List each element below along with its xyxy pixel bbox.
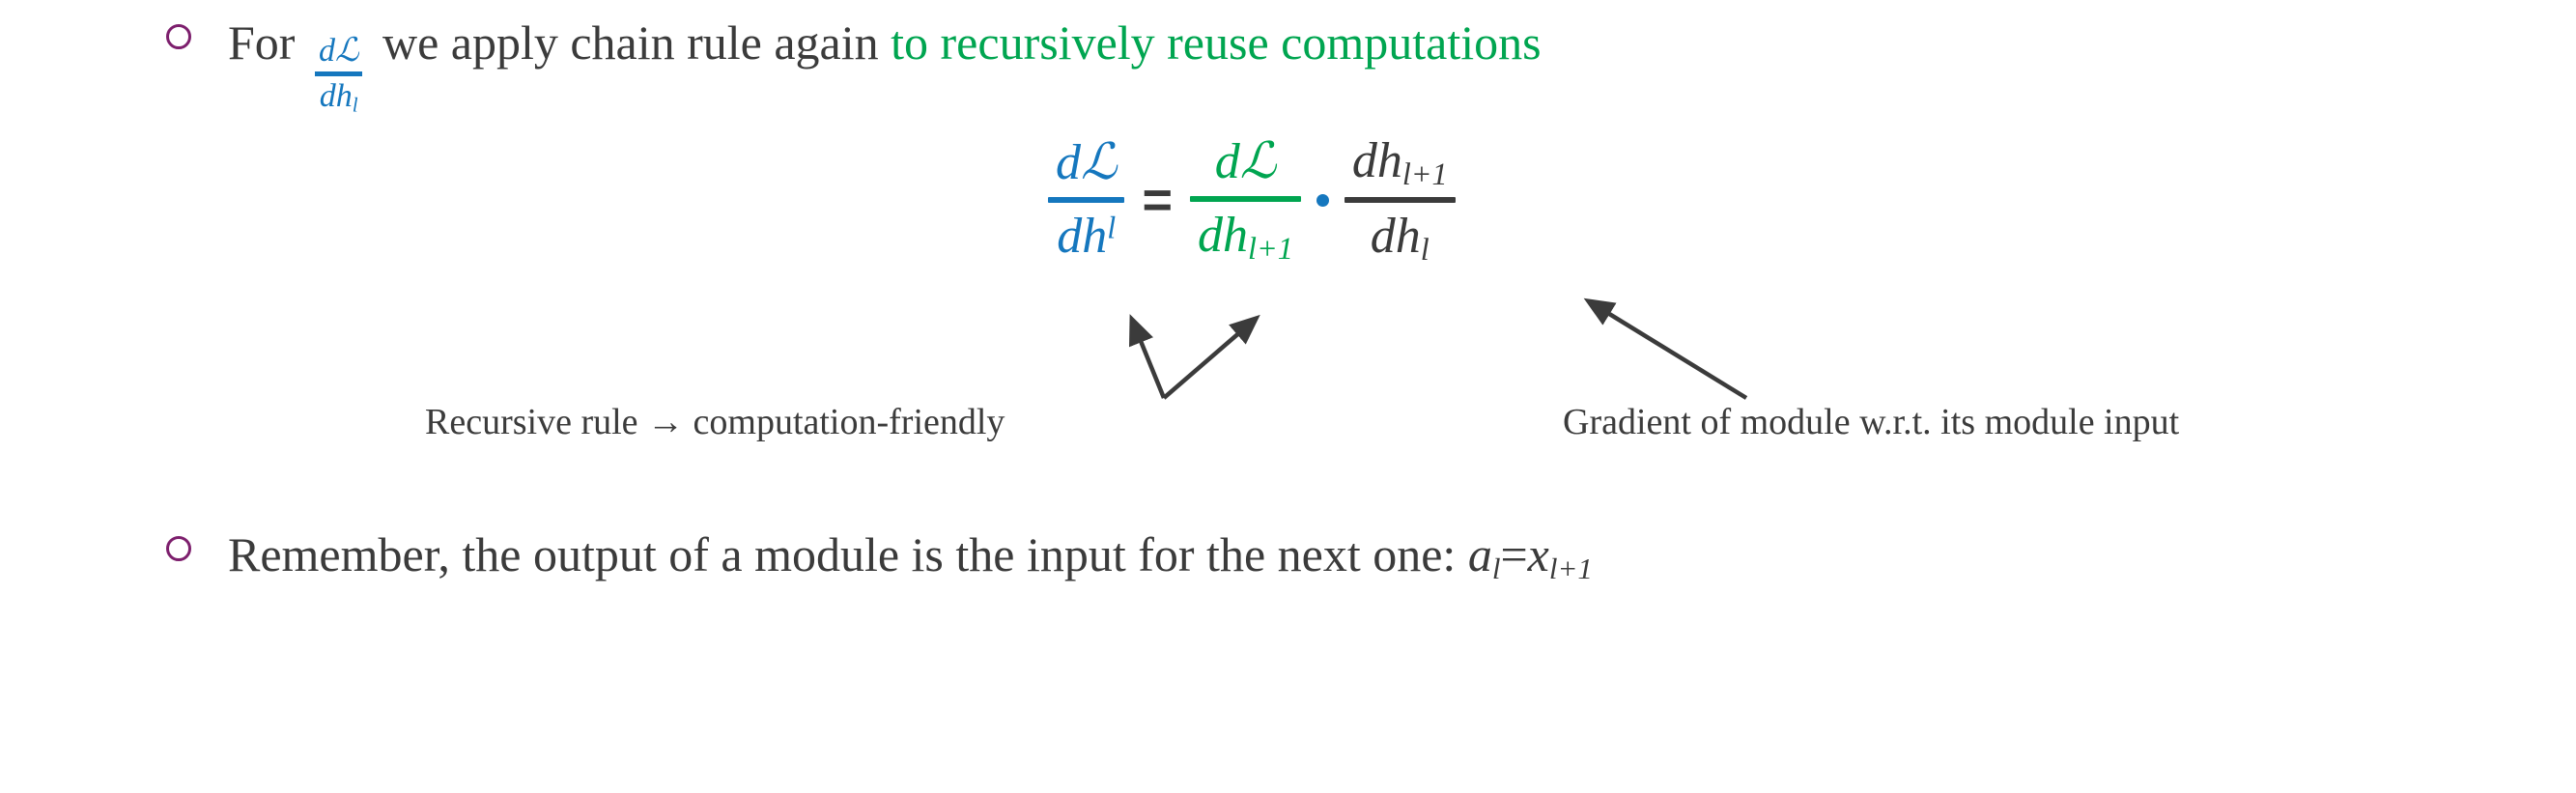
equation-lhs-denominator: dhl xyxy=(1049,209,1123,265)
arrow-to-lhs-fraction xyxy=(1132,320,1164,398)
equation-rhs-second-fraction: dhl+1 dhl xyxy=(1345,133,1456,267)
bullet-circle-icon xyxy=(166,24,191,49)
bullet-item-2: Remember, the output of a module is the … xyxy=(166,529,1593,584)
equation-rhs-second-denominator-sub: l xyxy=(1421,232,1430,267)
arrow-to-rhs-first-fraction xyxy=(1164,319,1256,398)
chain-rule-equation: dℒ dhl = dℒ dhl+1 dhl+1 dhl xyxy=(1048,133,1456,267)
inline-fraction-dL-dhl: dℒ dhl xyxy=(315,34,363,115)
equation-rhs-second-numerator-sub: l+1 xyxy=(1402,156,1448,191)
bullet-1-highlight: to recursively reuse computations xyxy=(891,17,1541,69)
equation-lhs-denominator-sup: l xyxy=(1107,211,1116,245)
bullet-circle-icon xyxy=(166,536,191,561)
equation-lhs-numerator: dℒ xyxy=(1048,135,1124,191)
bullet-1-mid: we apply chain rule again xyxy=(370,17,891,69)
equation-rhs-first-numerator: dℒ xyxy=(1207,134,1284,190)
equation-lhs-fraction: dℒ dhl xyxy=(1048,135,1124,265)
equation-rhs-second-numerator: dhl+1 xyxy=(1345,133,1456,191)
inline-fraction-numerator: dℒ xyxy=(315,34,363,69)
annotation-gradient-of-module: Gradient of module w.r.t. its module inp… xyxy=(1563,401,2179,443)
equation-equals-sign: = xyxy=(1142,170,1173,230)
bullet-item-1: For dℒ dhl we apply chain rule again to … xyxy=(166,17,1542,113)
bullet-2-text: Remember, the output of a module is the … xyxy=(228,529,1593,584)
equation-rhs-second-denominator: dhl xyxy=(1363,209,1437,267)
bullet-1-text: For dℒ dhl we apply chain rule again to … xyxy=(228,17,1542,113)
equation-rhs-first-denominator: dhl+1 xyxy=(1190,208,1301,266)
math-tail-x-sub: l+1 xyxy=(1549,552,1593,585)
equation-rhs-first-denominator-sub: l+1 xyxy=(1248,231,1293,266)
inline-fraction-bar xyxy=(315,71,363,76)
bullet-1-lead: For xyxy=(228,17,307,69)
equation-lhs-bar xyxy=(1048,197,1124,203)
slide-canvas: For dℒ dhl we apply chain rule again to … xyxy=(0,0,2576,793)
inline-fraction-denominator-sub: l xyxy=(353,93,358,116)
bullet-2-math-tail: al=xl+1 xyxy=(1468,529,1593,584)
arrow-to-rhs-second-fraction xyxy=(1589,301,1746,398)
equation-rhs-first-fraction: dℒ dhl+1 xyxy=(1190,134,1301,266)
annotation-recursive-rule: Recursive rule → computation-friendly xyxy=(425,401,1005,443)
inline-fraction-denominator: dhl xyxy=(316,79,362,115)
annotation-arrows xyxy=(0,0,2576,793)
equation-rhs-first-bar xyxy=(1190,196,1301,202)
equation-multiplication-dot-icon xyxy=(1316,194,1329,207)
equation-rhs-second-bar xyxy=(1345,197,1456,203)
bullet-2-lead: Remember, the output of a module is the … xyxy=(228,529,1468,581)
